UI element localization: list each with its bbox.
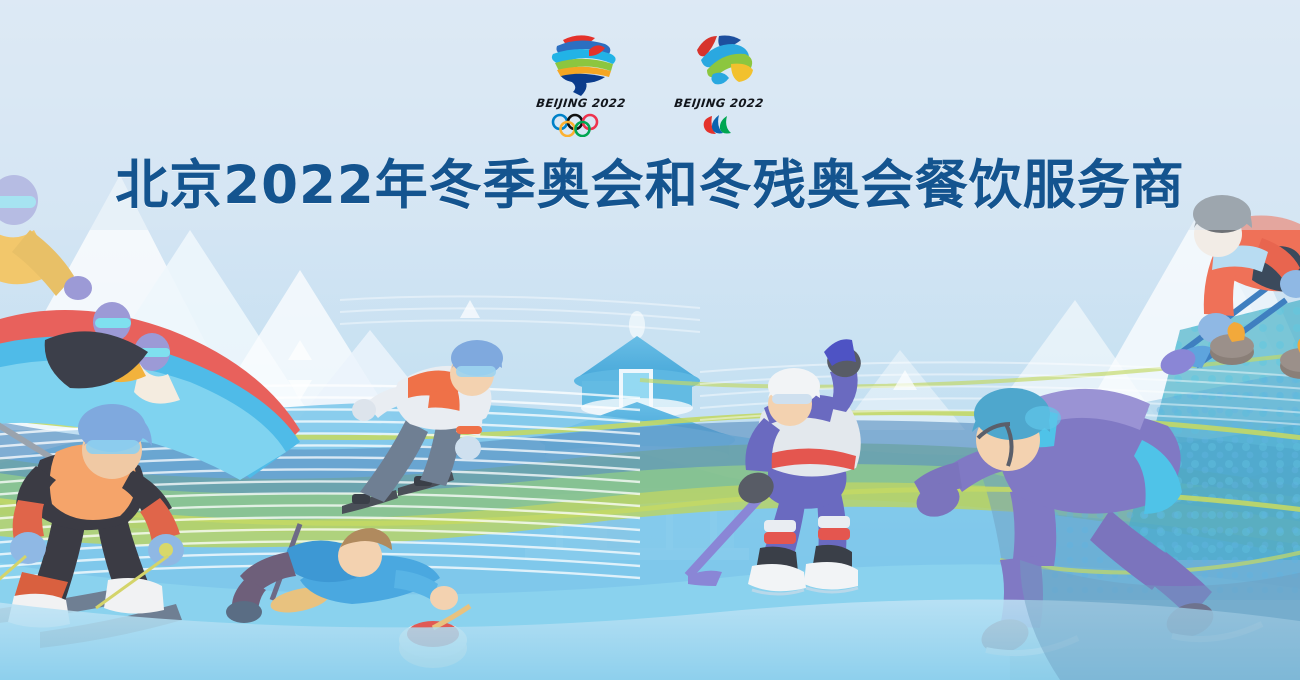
emblem-row: BEIJING 2022 BEIJING 2022 [0, 30, 1300, 130]
olympic-rings-icon [548, 113, 614, 137]
olympic-banner: BEIJING 2022 BEIJING 2022 [0, 0, 1300, 680]
page-title: 北京2022年冬季奥会和冬残奥会餐饮服务商 [0, 143, 1300, 219]
paralympic-wordmark: BEIJING 2022 [672, 96, 765, 110]
beijing-2022-olympic-emblem: BEIJING 2022 [535, 30, 627, 130]
olympic-dong-symbol [535, 30, 627, 96]
agitos-icon [686, 113, 752, 137]
beijing-2022-paralympic-emblem: BEIJING 2022 [673, 30, 765, 130]
olympic-wordmark: BEIJING 2022 [534, 96, 627, 110]
paralympic-fei-symbol [673, 30, 765, 96]
